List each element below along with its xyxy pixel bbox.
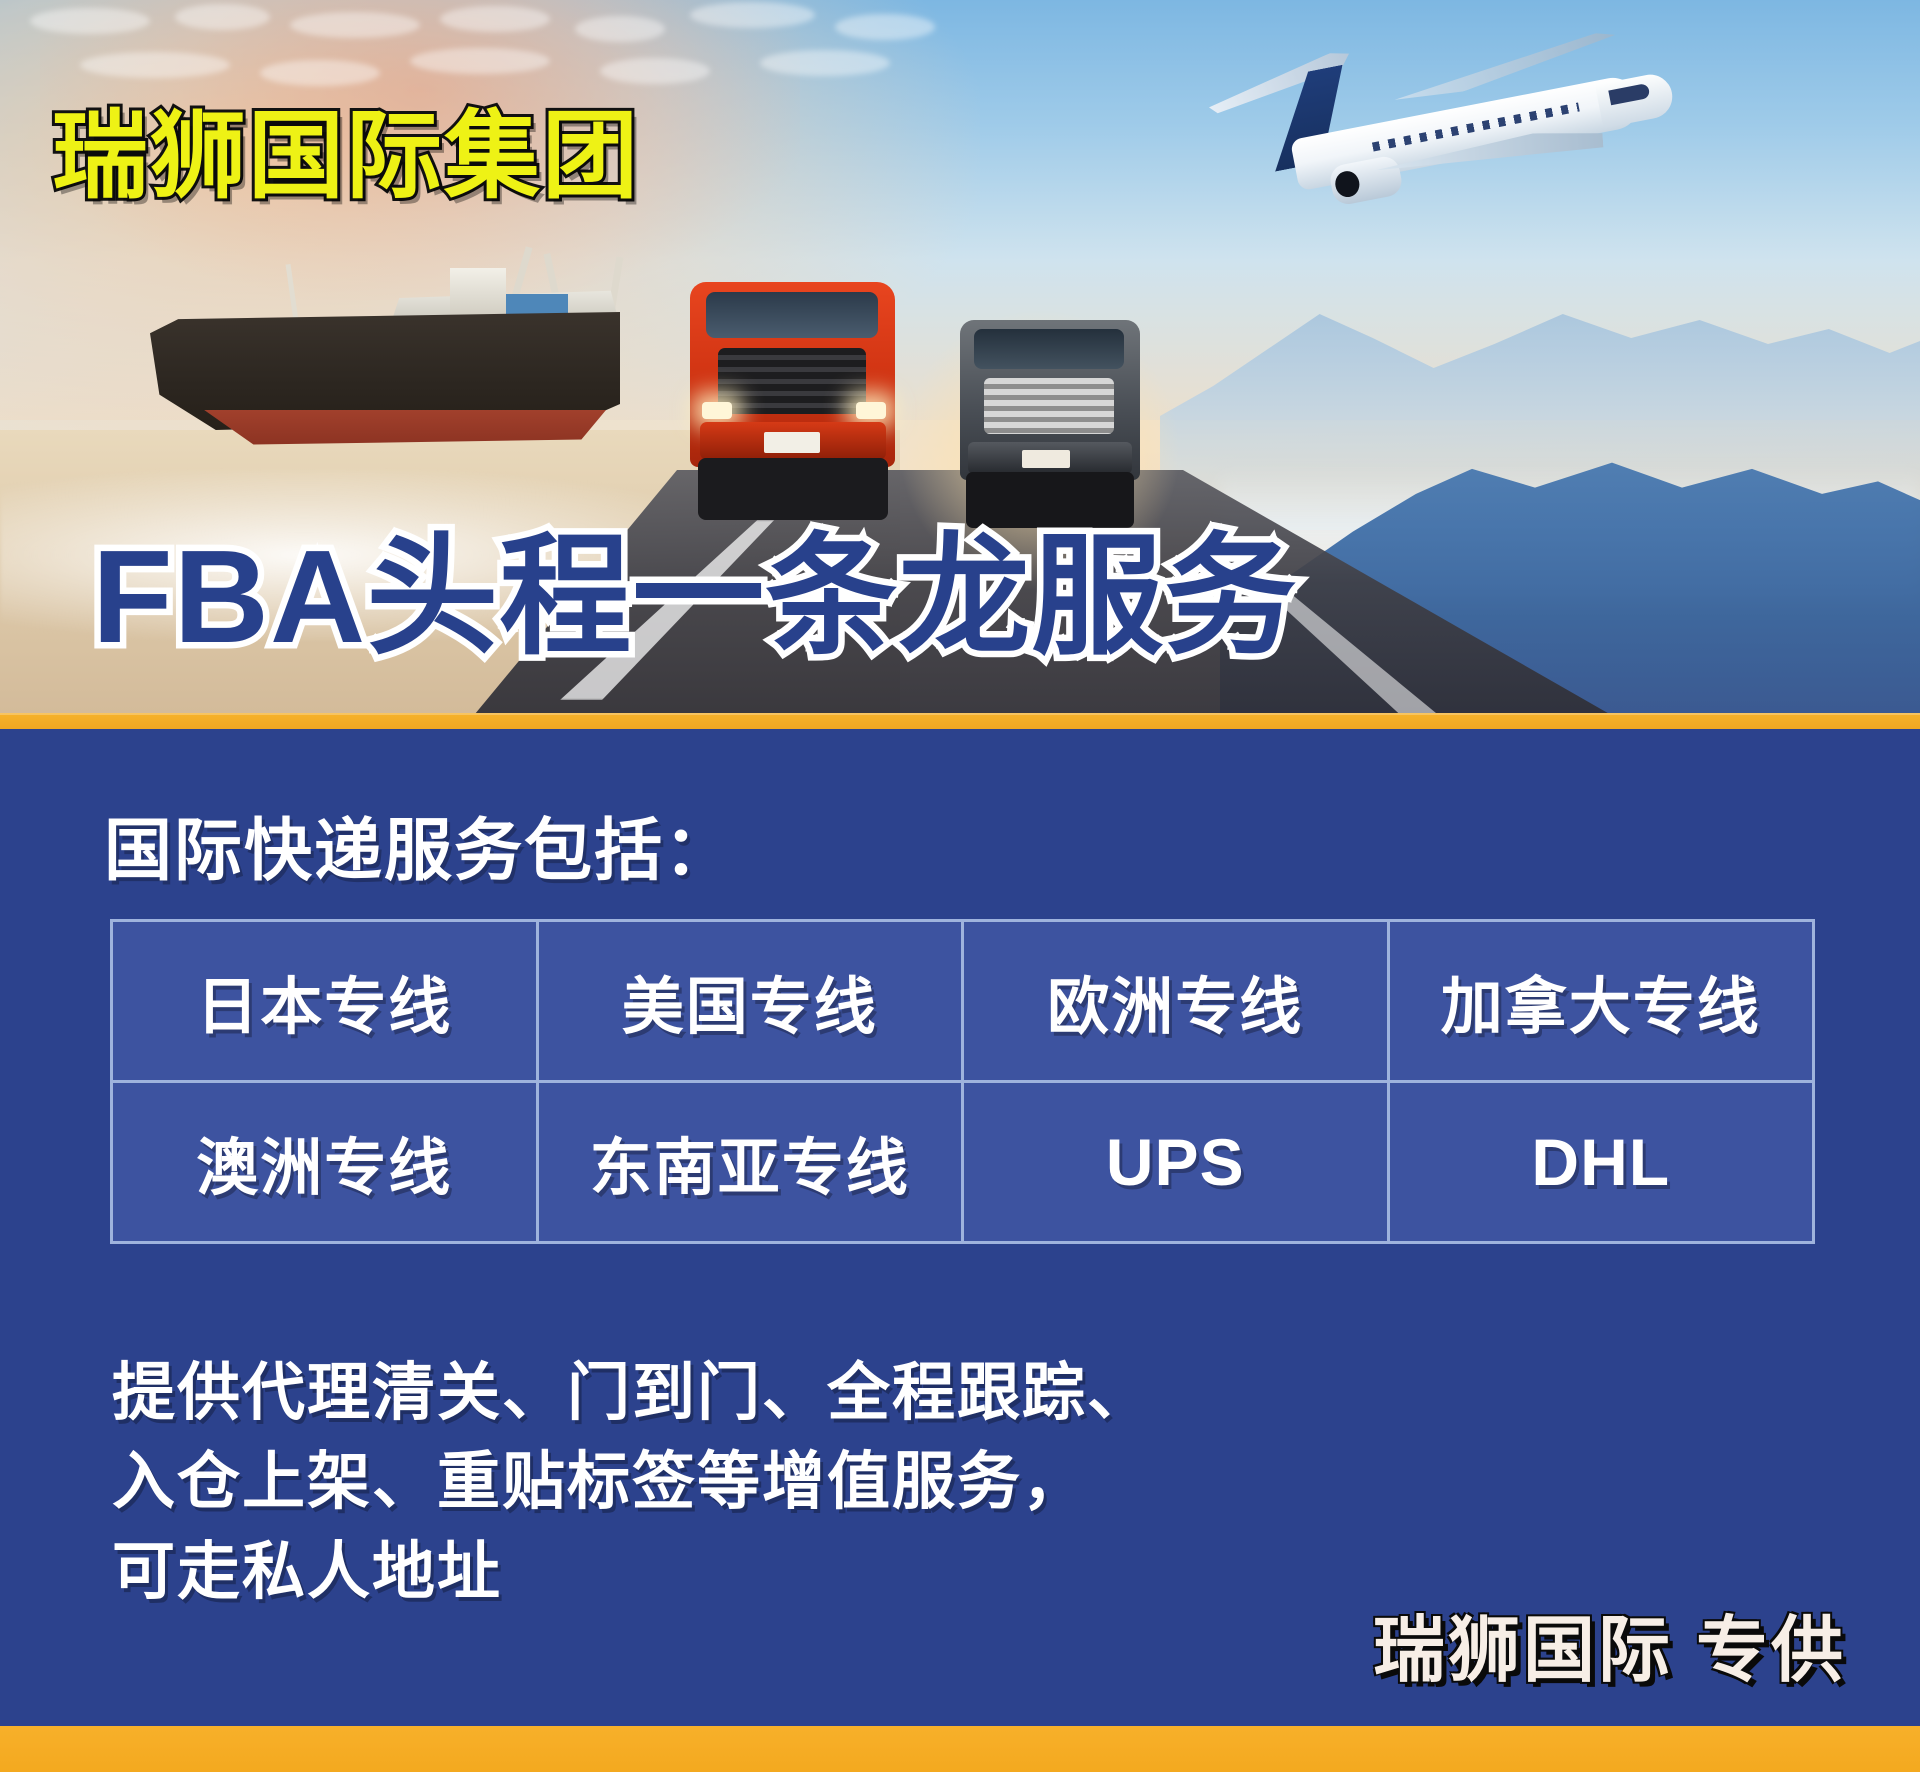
gray-truck-grille <box>984 378 1114 434</box>
service-cell-japan[interactable]: 日本专线 <box>112 921 538 1082</box>
red-truck-headlight-left <box>702 402 732 419</box>
red-truck-windshield <box>706 292 878 338</box>
services-table: 日本专线 美国专线 欧洲专线 加拿大专线 澳洲专线 东南亚专线 UPS DHL <box>110 919 1815 1244</box>
table-row: 澳洲专线 东南亚专线 UPS DHL <box>112 1082 1814 1243</box>
paragraph-line-1: 提供代理清关、门到门、全程跟踪、 <box>112 1349 1152 1438</box>
hero-headline: FBA头程一条龙服务 <box>92 528 1297 667</box>
red-truck-icon <box>690 282 910 522</box>
cargo-ship-icon <box>150 250 630 450</box>
hero-banner: 瑞狮国际集团 FBA头程一条龙服务 <box>0 0 1920 713</box>
brand-tagline: 瑞狮国际 专供 <box>1373 1591 1846 1696</box>
content-panel: 国际快递服务包括： 日本专线 美国专线 欧洲专线 加拿大专线 澳洲专线 东南亚专… <box>0 729 1920 1726</box>
service-cell-southeast-asia[interactable]: 东南亚专线 <box>537 1082 963 1243</box>
service-cell-dhl[interactable]: DHL <box>1388 1082 1814 1243</box>
section-title: 国际快递服务包括： <box>104 795 734 894</box>
gray-tanker-truck-icon <box>960 320 1150 530</box>
red-truck-wheels <box>698 458 888 520</box>
service-cell-usa[interactable]: 美国专线 <box>537 921 963 1082</box>
orange-footer-bar <box>0 1726 1920 1772</box>
paragraph-line-3: 可走私人地址 <box>112 1528 1152 1617</box>
service-cell-australia[interactable]: 澳洲专线 <box>112 1082 538 1243</box>
red-truck-grille <box>718 348 866 414</box>
paragraph-line-2: 入仓上架、重贴标签等增值服务， <box>112 1438 1152 1527</box>
table-row: 日本专线 美国专线 欧洲专线 加拿大专线 <box>112 921 1814 1082</box>
company-logo-text: 瑞狮国际集团 <box>52 78 640 217</box>
gray-truck-windshield <box>974 329 1124 369</box>
service-cell-europe[interactable]: 欧洲专线 <box>963 921 1389 1082</box>
gray-truck-plate <box>1022 450 1070 468</box>
orange-divider-bar <box>0 713 1920 729</box>
value-added-services-paragraph: 提供代理清关、门到门、全程跟踪、 入仓上架、重贴标签等增值服务， 可走私人地址 <box>112 1349 1152 1617</box>
gray-truck-wheels <box>966 472 1134 528</box>
red-truck-plate <box>764 432 820 453</box>
poster-root: 瑞狮国际集团 FBA头程一条龙服务 国际快递服务包括： 日本专线 美国专线 欧洲… <box>0 0 1920 1772</box>
ship-boot-topline <box>196 410 606 446</box>
red-truck-headlight-right <box>856 402 886 419</box>
service-cell-ups[interactable]: UPS <box>963 1082 1389 1243</box>
service-cell-canada[interactable]: 加拿大专线 <box>1388 921 1814 1082</box>
ship-bridge <box>450 268 506 320</box>
